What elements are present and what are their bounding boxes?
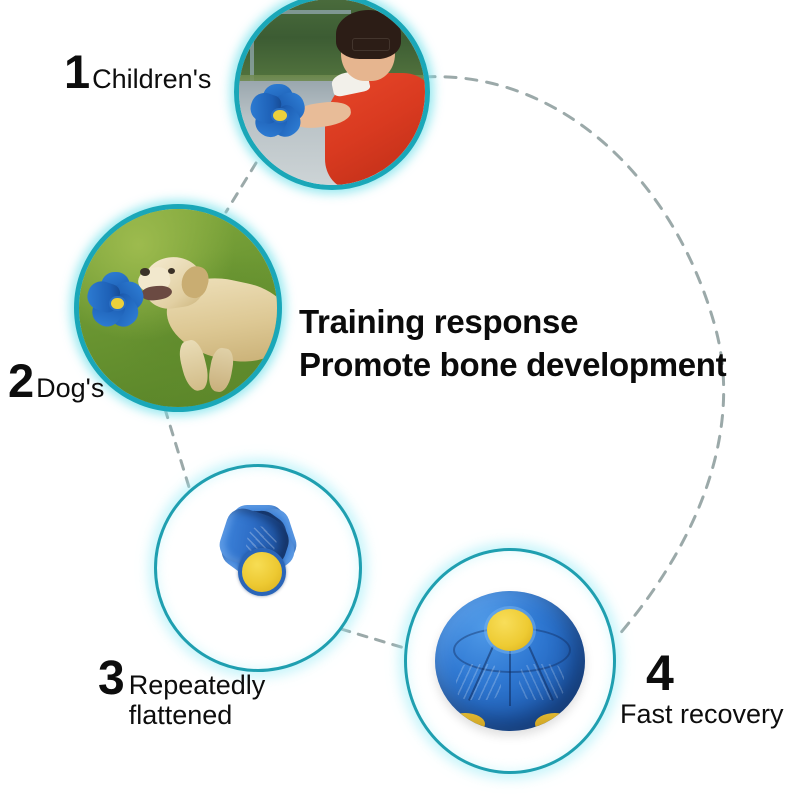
product-infographic: 1 Children's 2 Dog's 3 Repeatedly flatte… bbox=[0, 0, 800, 800]
disc-yellow-hub bbox=[271, 108, 288, 123]
step-3-label: 3 Repeatedly flattened bbox=[98, 655, 265, 730]
flying-disc-ball-held bbox=[245, 86, 312, 142]
step-4-label: 4 Fast recovery bbox=[620, 648, 784, 730]
ball-panel-texture-right bbox=[519, 664, 564, 700]
headline-line-1: Training response bbox=[299, 301, 726, 344]
step-3-text-line1: Repeatedly bbox=[129, 670, 266, 700]
recovered-round-ball bbox=[435, 591, 585, 731]
step-3-text: Repeatedly flattened bbox=[129, 671, 266, 730]
connector-3-to-4 bbox=[341, 629, 411, 650]
step-2-photo-circle[interactable] bbox=[74, 204, 282, 412]
step-1-number: 1 bbox=[64, 48, 89, 95]
headline: Training response Promote bone developme… bbox=[299, 301, 726, 387]
boy-glasses bbox=[352, 38, 389, 51]
ball-yellow-foot-left bbox=[445, 713, 485, 731]
step-2-text: Dog's bbox=[36, 374, 104, 403]
step-4-product-circle[interactable] bbox=[404, 548, 616, 774]
step-3-text-line2: flattened bbox=[129, 700, 233, 730]
flower-yellow-hub bbox=[238, 548, 286, 596]
ball-panel-texture-left bbox=[456, 664, 501, 700]
step-1-photo-circle[interactable] bbox=[234, 0, 430, 190]
connector-2-to-3 bbox=[165, 409, 189, 487]
step-1-text: Children's bbox=[92, 65, 211, 94]
scene-dog-with-disc bbox=[79, 209, 277, 407]
step-2-number: 2 bbox=[8, 357, 33, 404]
step-2-label: 2 Dog's bbox=[8, 357, 104, 404]
ball-yellow-foot-right bbox=[535, 713, 575, 731]
step-3-number: 3 bbox=[98, 655, 124, 703]
step-3-product-circle[interactable] bbox=[154, 464, 362, 672]
boy-hair bbox=[336, 10, 401, 58]
step-4-number: 4 bbox=[646, 648, 784, 698]
flattened-flower-ball bbox=[183, 493, 333, 643]
step-1-label: 1 Children's bbox=[64, 48, 211, 95]
step-4-text: Fast recovery bbox=[620, 700, 784, 730]
scene-boy-with-disc bbox=[239, 0, 425, 185]
ball-yellow-cap bbox=[487, 609, 533, 651]
headline-line-2: Promote bone development bbox=[299, 344, 726, 387]
flying-disc-ball-on-grass bbox=[83, 272, 148, 331]
